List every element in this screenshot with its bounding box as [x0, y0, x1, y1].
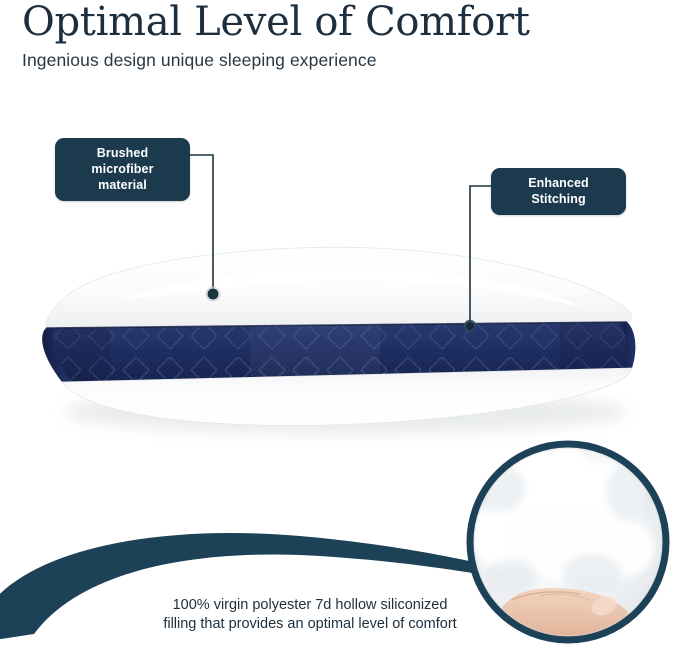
- callout-connectors: [190, 155, 491, 324]
- callout-enhanced-stitching[interactable]: Enhanced Stitching: [491, 168, 626, 215]
- caption-line-2: filling that provides an optimal level o…: [110, 615, 510, 634]
- pillow-bottom-shell: [62, 368, 632, 425]
- connector-endpoint-stitching: [464, 320, 476, 332]
- hand-holding-fiberfill: [498, 588, 631, 648]
- connector-line-stitching: [470, 186, 491, 324]
- page-subtitle: Ingenious design unique sleeping experie…: [22, 49, 642, 71]
- pillow-top-shell: [46, 247, 631, 330]
- callout-microfiber-line1: Brushed microfiber: [91, 146, 153, 176]
- pillow-top-highlight: [120, 269, 588, 310]
- connector-endpoint-microfiber: [206, 287, 221, 302]
- header: Optimal Level of Comfort Ingenious desig…: [22, 0, 642, 71]
- pillow-bottom-highlight: [120, 396, 540, 412]
- callout-stitching-line1: Enhanced: [528, 176, 589, 190]
- callout-brushed-microfiber[interactable]: Brushed microfiber material: [55, 138, 190, 201]
- callout-microfiber-line2: material: [98, 178, 147, 192]
- product-illustration: [0, 0, 679, 650]
- page-title: Optimal Level of Comfort: [22, 0, 642, 44]
- caption-line-1: 100% virgin polyester 7d hollow siliconi…: [173, 597, 448, 613]
- callout-stitching-line2: Stitching: [531, 192, 585, 206]
- pillow-quilted-gusset: [40, 316, 640, 392]
- connector-line-microfiber: [190, 155, 213, 291]
- infographic-canvas: Optimal Level of Comfort Ingenious desig…: [0, 0, 679, 650]
- footer-caption: 100% virgin polyester 7d hollow siliconi…: [110, 596, 510, 634]
- pillow-shadow: [63, 390, 627, 434]
